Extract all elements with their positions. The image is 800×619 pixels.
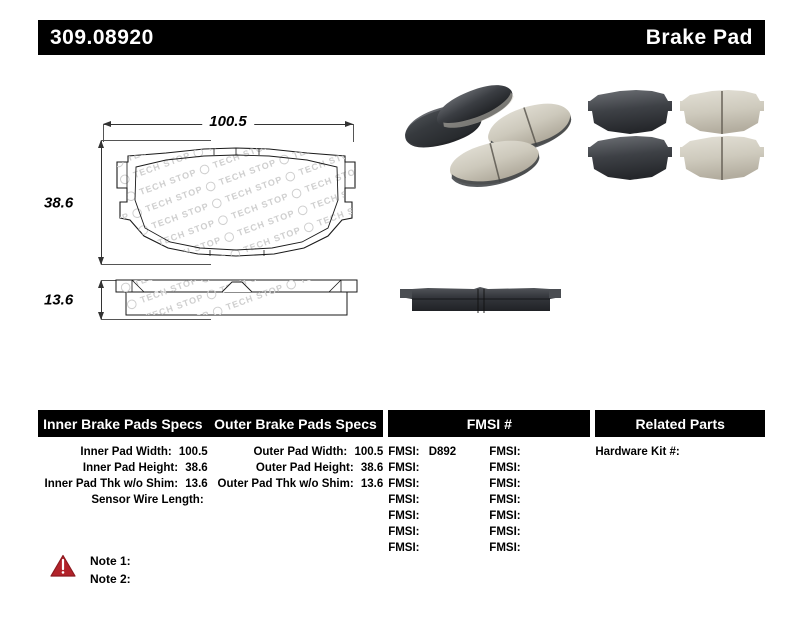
fmsi-row: FMSI: <box>388 508 489 524</box>
fmsi-row: FMSI: <box>489 492 590 508</box>
spec-table-body: Inner Pad Width: 100.5 Inner Pad Height:… <box>38 444 765 556</box>
spec-value: 38.6 <box>361 462 383 474</box>
fmsi-label: FMSI: <box>489 446 520 458</box>
spec-row: Inner Pad Thk w/o Shim: 13.6 <box>38 476 208 492</box>
pad-side-view-drawing: STOP ◯ TECH STOP ◯ TECH STOP ◯ TECH STOP… <box>114 275 359 323</box>
fmsi-row: FMSI: <box>489 540 590 556</box>
technical-drawing-area: 100.5 38.6 STOP ◯ TECH STOP ◯ TECH STOP … <box>38 95 388 375</box>
fmsi-subcolumn-right: FMSI: FMSI: FMSI: FMSI: <box>489 444 590 556</box>
fmsi-row: FMSI: <box>388 540 489 556</box>
note-1: Note 1: <box>90 552 131 570</box>
spec-row: Outer Pad Thk w/o Shim: 13.6 <box>208 476 384 492</box>
product-type: Brake Pad <box>646 26 753 50</box>
spec-label: Sensor Wire Length: <box>91 494 203 506</box>
spec-label: Inner Pad Thk w/o Shim: <box>45 478 179 490</box>
fmsi-row: FMSI: <box>489 460 590 476</box>
column-header-outer-specs: Outer Brake Pads Specs <box>208 410 384 437</box>
fmsi-row: FMSI: <box>489 444 590 460</box>
spec-label: Inner Pad Height: <box>83 462 178 474</box>
spec-label: Outer Pad Width: <box>253 446 347 458</box>
warning-triangle-icon <box>50 554 76 578</box>
spec-value: 38.6 <box>185 462 207 474</box>
fmsi-label: FMSI: <box>489 478 520 490</box>
height-dimension-line <box>101 140 102 265</box>
thickness-dimension-label: 13.6 <box>42 289 75 312</box>
fmsi-row: FMSI: <box>489 508 590 524</box>
spec-label: Inner Pad Width: <box>80 446 171 458</box>
note-text-block: Note 1: Note 2: <box>90 552 131 588</box>
related-parts-column: Hardware Kit #: <box>595 444 765 556</box>
fmsi-subcolumn-left: FMSI: D892 FMSI: FMSI: FMSI: <box>388 444 489 556</box>
spec-sheet-page: 309.08920 Brake Pad 100.5 38.6 <box>0 0 800 619</box>
inner-specs-column: Inner Pad Width: 100.5 Inner Pad Height:… <box>38 444 208 556</box>
spec-value: 100.5 <box>179 446 208 458</box>
fmsi-row: FMSI: <box>388 476 489 492</box>
fmsi-label: FMSI: <box>388 526 419 538</box>
related-part-label: Hardware Kit #: <box>595 446 679 458</box>
spec-row: Outer Pad Height: 38.6 <box>208 460 384 476</box>
height-dimension: 38.6 <box>90 140 114 265</box>
fmsi-label: FMSI: <box>388 494 419 506</box>
fmsi-row: FMSI: <box>388 460 489 476</box>
fmsi-row: FMSI: <box>388 524 489 540</box>
fmsi-label: FMSI: <box>388 446 419 458</box>
spec-row: Inner Pad Width: 100.5 <box>38 444 208 460</box>
fmsi-label: FMSI: <box>489 462 520 474</box>
specification-table: Inner Brake Pads Specs Outer Brake Pads … <box>38 410 765 556</box>
spec-label: Outer Pad Thk w/o Shim: <box>218 478 354 490</box>
thickness-dimension: 13.6 <box>90 280 114 320</box>
width-dimension: 100.5 <box>103 113 353 135</box>
product-photo-edge-view <box>398 283 563 325</box>
related-part-row: Hardware Kit #: <box>595 444 765 460</box>
spec-row: Outer Pad Width: 100.5 <box>208 444 384 460</box>
column-header-related-parts: Related Parts <box>595 410 765 437</box>
notes-section: Note 1: Note 2: <box>50 552 131 588</box>
fmsi-label: FMSI: <box>388 510 419 522</box>
spec-label: Outer Pad Height: <box>256 462 354 474</box>
fmsi-label: FMSI: <box>388 462 419 474</box>
fmsi-label: FMSI: <box>489 526 520 538</box>
header-bar: 309.08920 Brake Pad <box>38 20 765 55</box>
fmsi-label: FMSI: <box>388 542 419 554</box>
outer-specs-column: Outer Pad Width: 100.5 Outer Pad Height:… <box>208 444 384 556</box>
spec-value: 13.6 <box>185 478 207 490</box>
fmsi-label: FMSI: <box>489 494 520 506</box>
fmsi-label: FMSI: <box>388 478 419 490</box>
fmsi-column: FMSI: D892 FMSI: FMSI: FMSI: <box>388 444 590 556</box>
fmsi-row: FMSI: <box>489 524 590 540</box>
product-photo-pair-set <box>580 85 765 190</box>
fmsi-row: FMSI: <box>489 476 590 492</box>
spec-row: Inner Pad Height: 38.6 <box>38 460 208 476</box>
spec-value: 100.5 <box>354 446 383 458</box>
fmsi-label: FMSI: <box>489 542 520 554</box>
thickness-dimension-line <box>101 280 102 320</box>
part-number: 309.08920 <box>50 26 154 50</box>
pad-front-view-drawing: STOP ◯ TECH STOP ◯ TECH STOP ◯ TECH STOP… <box>114 140 359 265</box>
spec-row: Sensor Wire Length: <box>38 492 208 508</box>
column-header-fmsi: FMSI # <box>388 410 590 437</box>
spec-table-header-row: Inner Brake Pads Specs Outer Brake Pads … <box>38 410 765 437</box>
column-header-inner-specs: Inner Brake Pads Specs <box>38 410 208 437</box>
fmsi-row: FMSI: <box>388 492 489 508</box>
fmsi-row: FMSI: D892 <box>388 444 489 460</box>
height-dimension-label: 38.6 <box>42 191 75 214</box>
width-dimension-label: 100.5 <box>202 113 254 130</box>
fmsi-label: FMSI: <box>489 510 520 522</box>
fmsi-value: D892 <box>429 446 457 458</box>
product-photo-angled-set <box>400 85 575 190</box>
note-2: Note 2: <box>90 570 131 588</box>
spec-value: 13.6 <box>361 478 383 490</box>
